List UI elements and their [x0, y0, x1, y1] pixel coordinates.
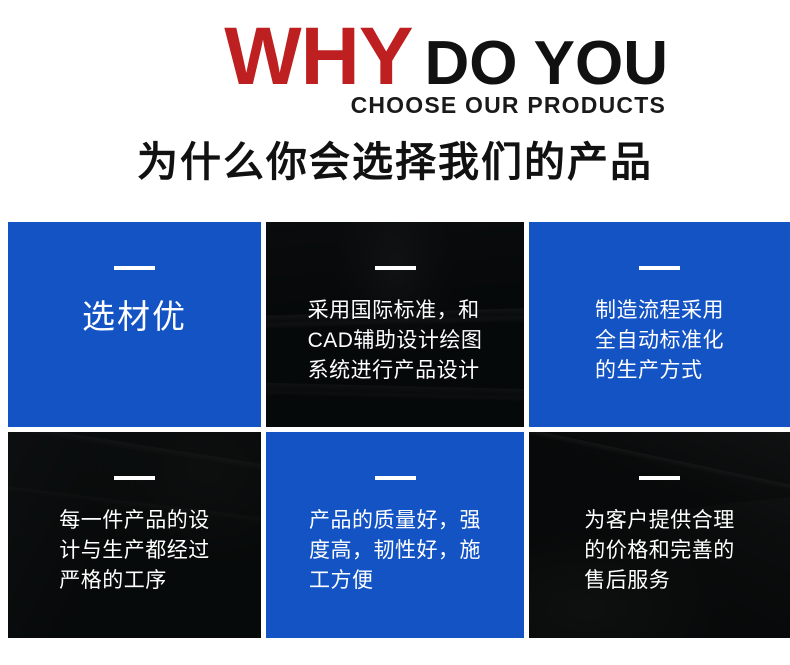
- feature-cell-material: 选材优: [8, 222, 261, 427]
- header: WHYDO YOU CHOOSE OUR PRODUCTS 为什么你会选择我们的…: [0, 0, 790, 210]
- promo-banner: WHYDO YOU CHOOSE OUR PRODUCTS 为什么你会选择我们的…: [0, 0, 790, 665]
- headline-title-cn: 为什么你会选择我们的产品: [0, 128, 790, 188]
- feature-text: 产品的质量好，强 度高，韧性好，施 工方便: [309, 506, 481, 596]
- divider-dash-icon: [375, 476, 416, 480]
- feature-cell-content: 采用国际标准，和 CAD辅助设计绘图 系统进行产品设计: [266, 222, 524, 386]
- headline: WHYDO YOU: [0, 16, 668, 98]
- divider-dash-icon: [114, 266, 155, 270]
- feature-cell-strict-process: 每一件产品的设 计与生产都经过 严格的工序: [8, 432, 261, 638]
- feature-text: 制造流程采用 全自动标准化 的生产方式: [595, 296, 724, 386]
- feature-cell-content: 产品的质量好，强 度高，韧性好，施 工方便: [266, 432, 524, 596]
- feature-cell-content: 每一件产品的设 计与生产都经过 严格的工序: [8, 432, 261, 596]
- headline-subtitle-en: CHOOSE OUR PRODUCTS: [0, 92, 666, 119]
- feature-grid: 选材优 采用国际标准，和 CAD辅助设计绘图 系统进行产品设计 制造流程采用 全…: [8, 222, 790, 638]
- divider-dash-icon: [375, 266, 416, 270]
- headline-why: WHY: [224, 11, 412, 102]
- feature-cell-design-standard: 采用国际标准，和 CAD辅助设计绘图 系统进行产品设计: [266, 222, 524, 427]
- feature-cell-content: 为客户提供合理 的价格和完善的 售后服务: [529, 432, 790, 596]
- feature-cell-content: 选材优: [8, 222, 261, 338]
- feature-cell-quality-strength: 产品的质量好，强 度高，韧性好，施 工方便: [266, 432, 524, 638]
- feature-cell-content: 制造流程采用 全自动标准化 的生产方式: [529, 222, 790, 386]
- feature-cell-automated-production: 制造流程采用 全自动标准化 的生产方式: [529, 222, 790, 427]
- divider-dash-icon: [639, 476, 680, 480]
- divider-dash-icon: [114, 476, 155, 480]
- divider-dash-icon: [639, 266, 680, 270]
- feature-text: 为客户提供合理 的价格和完善的 售后服务: [584, 506, 735, 596]
- feature-text: 每一件产品的设 计与生产都经过 严格的工序: [59, 506, 210, 596]
- feature-text: 采用国际标准，和 CAD辅助设计绘图 系统进行产品设计: [308, 296, 483, 386]
- feature-text: 选材优: [82, 296, 187, 338]
- headline-do-you: DO YOU: [425, 29, 668, 98]
- feature-cell-price-service: 为客户提供合理 的价格和完善的 售后服务: [529, 432, 790, 638]
